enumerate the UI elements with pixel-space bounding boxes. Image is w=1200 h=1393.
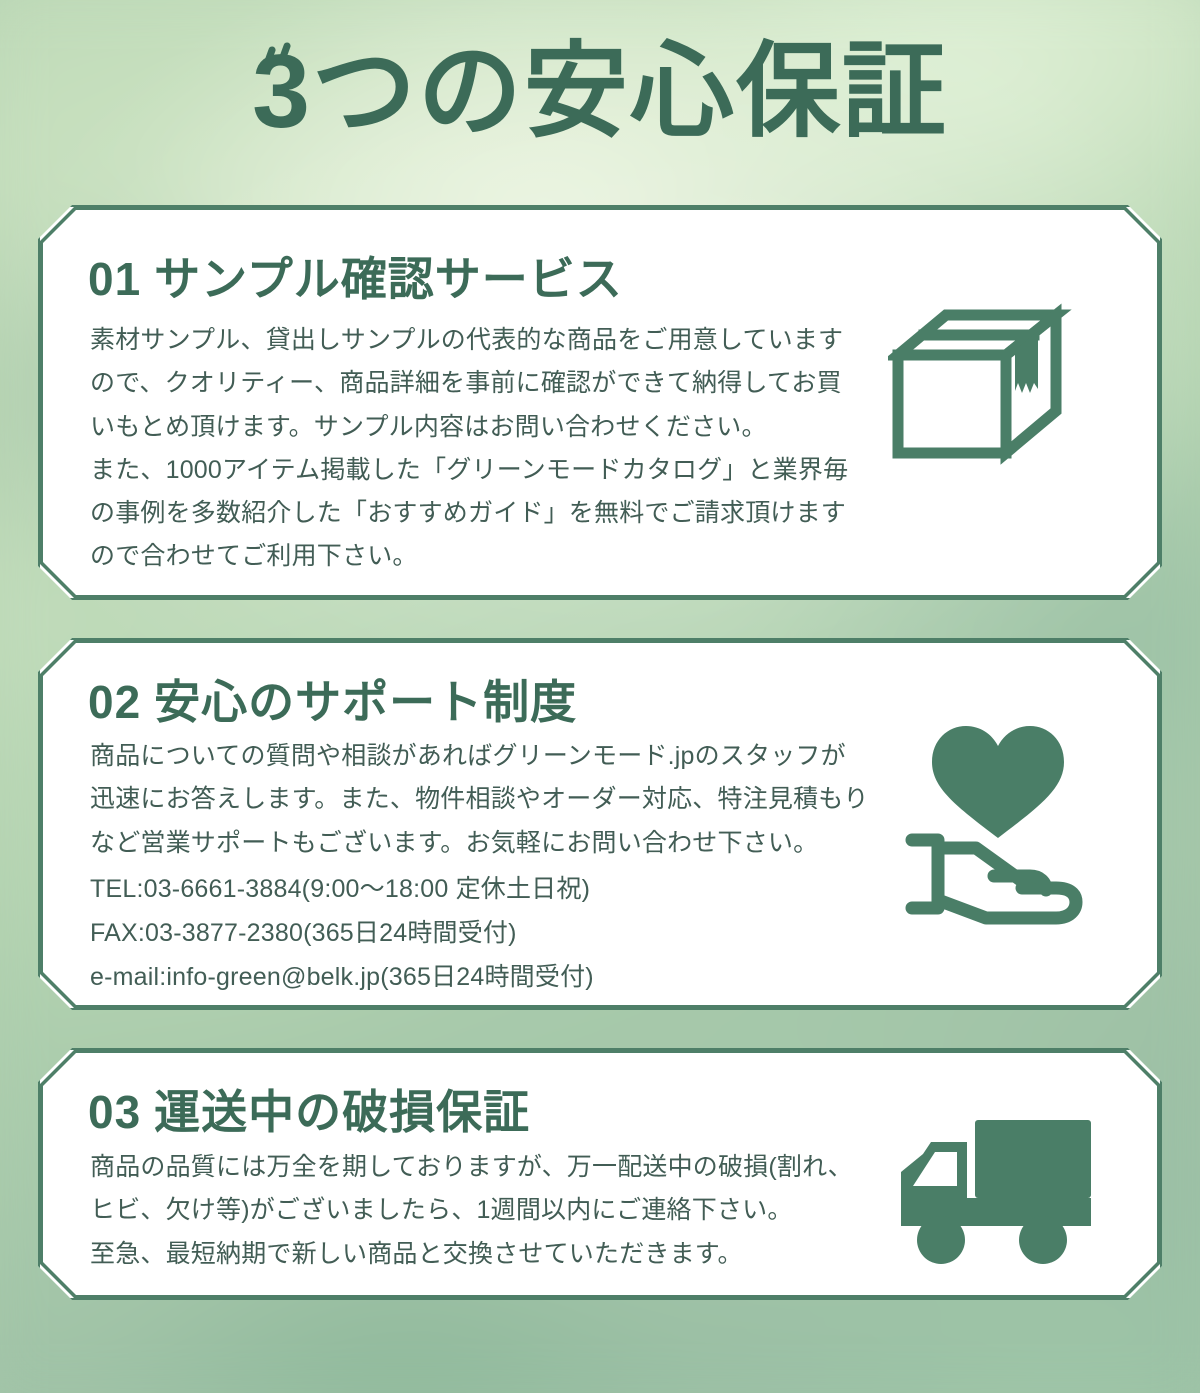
card-text-line: 至急、最短納期で新しい商品と交換させていただきます。 [90, 1233, 853, 1276]
card-text-line: など営業サポートもございます。お気軽にお問い合わせ下さい。 [90, 822, 869, 865]
guarantee-card-01: 01サンプル確認サービス 素材サンプル、貸出しサンプルの代表的な商品をご用意して… [38, 205, 1162, 600]
card-text-line: ヒビ、欠け等)がございましたら、1週間以内にご連絡下さい。 [90, 1189, 853, 1232]
card-heading-02: 02安心のサポート制度 [88, 666, 577, 732]
card-number-02: 02 [88, 676, 141, 728]
card-heading-text-01: サンプル確認サービス [154, 253, 623, 305]
card-heading-03: 03運送中の破損保証 [88, 1076, 530, 1142]
guarantee-card-02: 02安心のサポート制度 商品についての質問や相談があればグリーンモード.jpのス… [38, 638, 1162, 1010]
card-body: 03運送中の破損保証 商品の品質には万全を期しておりますが、万一配送中の破損(割… [40, 1050, 1160, 1298]
card-text-line: ので、クオリティー、商品詳細を事前に確認ができて納得してお買 [90, 362, 848, 405]
page-title-inner: 3つの安心保証 [252, 34, 948, 150]
contact-fax: FAX:03-3877-2380(365日24時間受付) [90, 912, 594, 956]
card-text-01: 素材サンプル、貸出しサンプルの代表的な商品をご用意しています ので、クオリティー… [90, 319, 848, 579]
card-text-line: の事例を多数紹介した「おすすめガイド」を無料でご請求頂けます [90, 492, 848, 535]
contact-tel[interactable]: TEL:03-6661-3884(9:00〜18:00 定休土日祝) [90, 868, 594, 912]
card-heading-01: 01サンプル確認サービス [88, 243, 623, 309]
card-body: 01サンプル確認サービス 素材サンプル、貸出しサンプルの代表的な商品をご用意して… [40, 207, 1160, 598]
card-text-line: 商品についての質問や相談があればグリーンモード.jpのスタッフが [90, 735, 869, 778]
card-text-line: 商品の品質には万全を期しておりますが、万一配送中の破損(割れ、 [90, 1146, 853, 1189]
contact-details: TEL:03-6661-3884(9:00〜18:00 定休土日祝) FAX:0… [90, 868, 594, 999]
card-text-line: 迅速にお答えします。また、物件相談やオーダー対応、特注見積もり [90, 778, 869, 821]
card-number-03: 03 [88, 1086, 141, 1138]
page-title-wrap: 3つの安心保証 [0, 34, 1200, 150]
accent-tick-icon [264, 42, 298, 72]
card-text-03: 商品の品質には万全を期しておりますが、万一配送中の破損(割れ、 ヒビ、欠け等)が… [90, 1146, 853, 1276]
card-text-line: ので合わせてご利用下さい。 [90, 535, 848, 578]
delivery-truck-icon [887, 1110, 1102, 1275]
contact-email[interactable]: e-mail:info-green@belk.jp(365日24時間受付) [90, 956, 594, 1000]
card-text-line: 素材サンプル、貸出しサンプルの代表的な商品をご用意しています [90, 319, 848, 362]
card-number-01: 01 [88, 253, 141, 305]
card-heading-text-02: 安心のサポート制度 [154, 676, 577, 728]
card-text-02: 商品についての質問や相談があればグリーンモード.jpのスタッフが 迅速にお答えし… [90, 735, 869, 865]
cardboard-box-icon [888, 303, 1108, 468]
guarantee-card-03: 03運送中の破損保証 商品の品質には万全を期しておりますが、万一配送中の破損(割… [38, 1048, 1162, 1300]
page-title: 3つの安心保証 [252, 34, 948, 150]
guarantee-page: 3つの安心保証 01サンプル確認サービス 素材サンプル、貸出しサンプルの代表的な… [0, 0, 1200, 1393]
card-body: 02安心のサポート制度 商品についての質問や相談があればグリーンモード.jpのス… [40, 640, 1160, 1008]
card-text-line: いもとめ頂けます。サンプル内容はお問い合わせください。 [90, 406, 848, 449]
heart-in-hand-icon [898, 718, 1098, 933]
card-text-line: また、1000アイテム掲載した「グリーンモードカタログ」と業界毎 [90, 449, 848, 492]
card-heading-text-03: 運送中の破損保証 [154, 1086, 530, 1138]
